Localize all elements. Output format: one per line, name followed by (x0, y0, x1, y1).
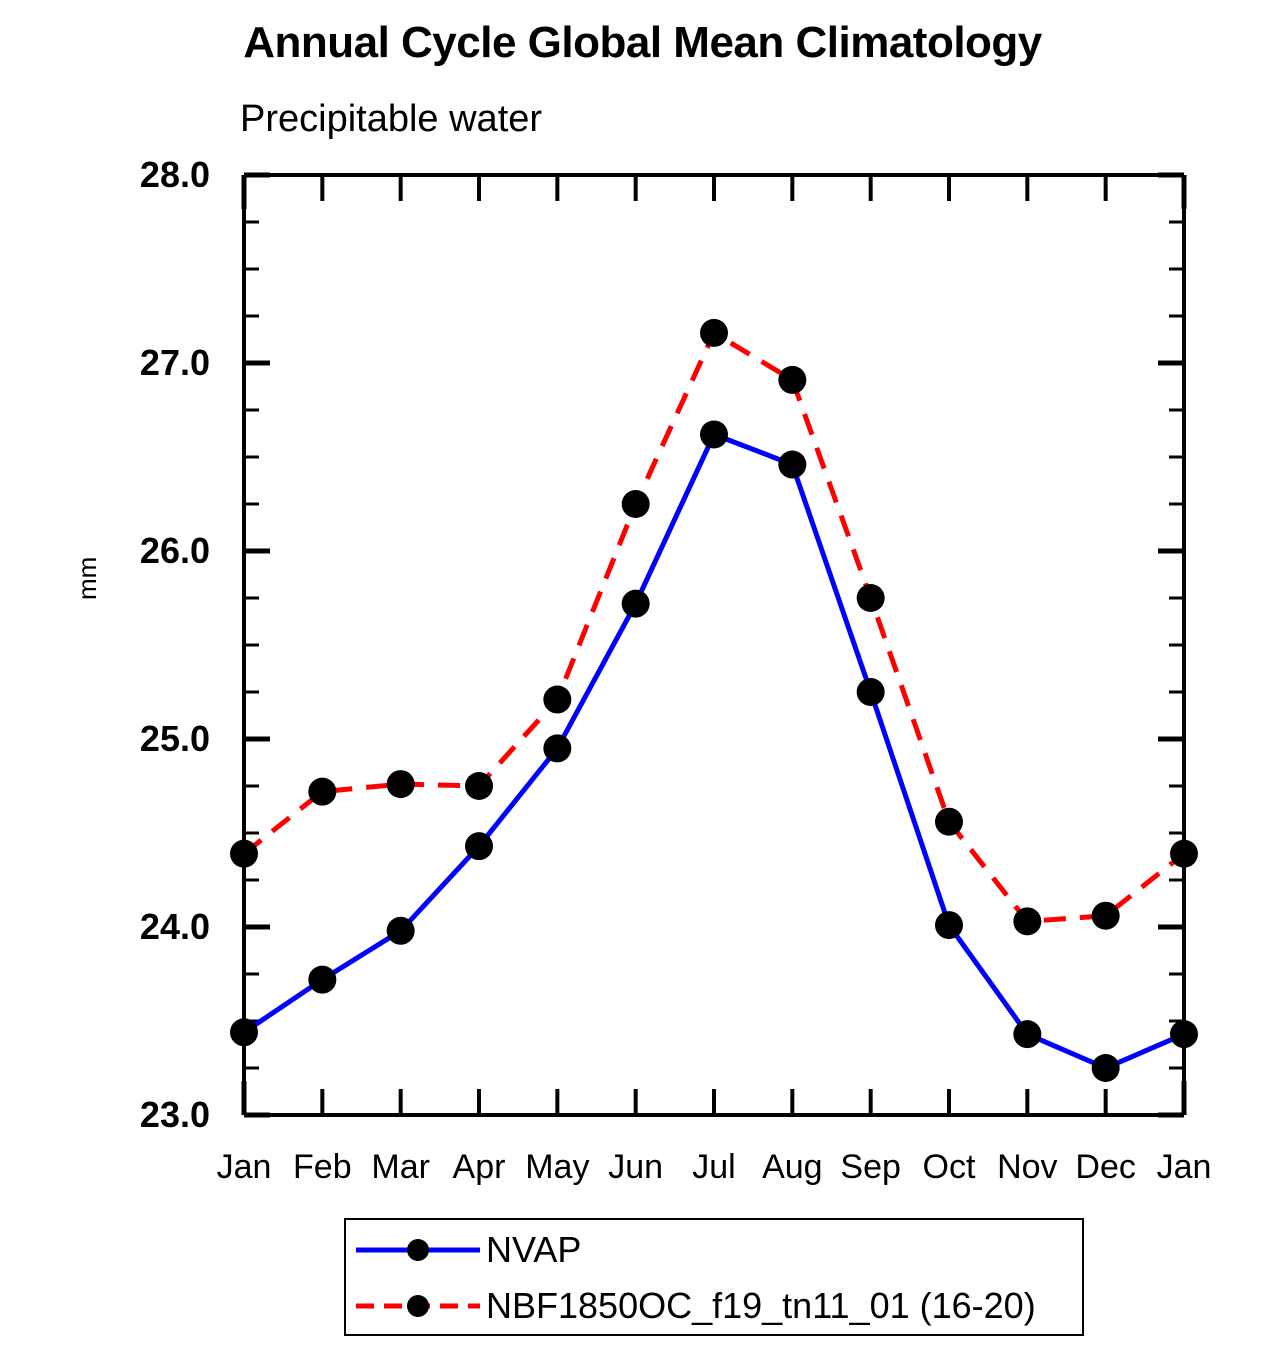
legend-label-0: NVAP (486, 1229, 581, 1271)
axis-ticks (244, 175, 1184, 1115)
data-point-marker (1092, 902, 1120, 930)
data-point-marker (387, 917, 415, 945)
data-point-marker (465, 772, 493, 800)
legend-swatch-solid-line-icon (356, 1238, 480, 1262)
series-line-0 (244, 434, 1184, 1068)
plot-area (0, 0, 1285, 1352)
data-point-marker (622, 590, 650, 618)
data-point-marker (230, 840, 258, 868)
data-point-marker (308, 966, 336, 994)
data-point-marker (778, 451, 806, 479)
data-point-marker (465, 832, 493, 860)
data-point-marker (700, 319, 728, 347)
data-point-marker (778, 366, 806, 394)
climatology-chart-figure: Annual Cycle Global Mean Climatology Pre… (0, 0, 1285, 1352)
data-point-marker (1170, 1020, 1198, 1048)
legend-entry-model: NBF1850OC_f19_tn11_01 (16-20) (346, 1278, 1082, 1334)
data-point-marker (230, 1018, 258, 1046)
legend-entry-nvap: NVAP (346, 1222, 1082, 1278)
axes-frame (244, 175, 1184, 1115)
data-point-marker (543, 734, 571, 762)
data-point-marker (857, 678, 885, 706)
data-point-marker (1013, 1020, 1041, 1048)
legend-swatch-dashed-line-icon (356, 1294, 480, 1318)
data-point-marker (1170, 840, 1198, 868)
data-point-marker (1092, 1054, 1120, 1082)
data-point-marker (935, 808, 963, 836)
data-point-marker (935, 911, 963, 939)
data-point-marker (543, 686, 571, 714)
data-point-marker (308, 778, 336, 806)
data-point-marker (622, 490, 650, 518)
data-point-marker (700, 420, 728, 448)
data-point-marker (387, 770, 415, 798)
data-point-marker (857, 584, 885, 612)
data-point-marker (1013, 907, 1041, 935)
data-series-group (230, 319, 1198, 1082)
legend-label-1: NBF1850OC_f19_tn11_01 (16-20) (486, 1285, 1036, 1327)
legend: NVAP NBF1850OC_f19_tn11_01 (16-20) (344, 1218, 1084, 1336)
